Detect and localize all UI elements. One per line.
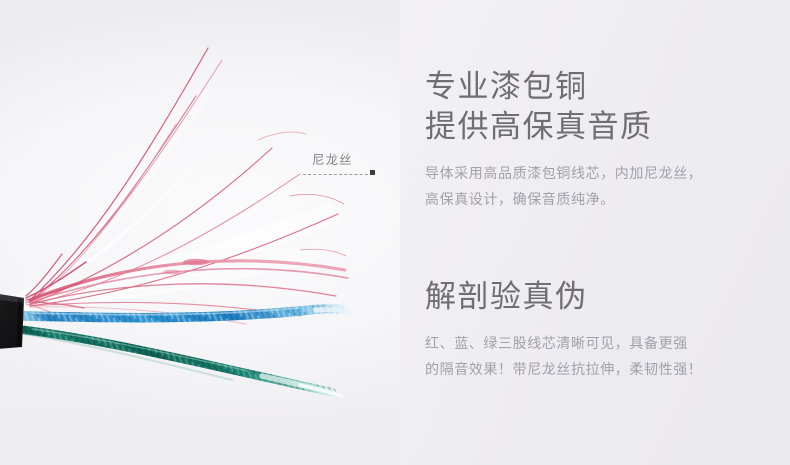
block-1-body-line-1: 导体采用高品质漆包铜线芯，内加尼龙丝， <box>425 160 765 186</box>
block-2-body: 红、蓝、绿三股线芯清晰可见，具备更强 的隔音效果！带尼龙丝抗拉伸，柔韧性强！ <box>425 330 765 382</box>
block-1-body-line-2: 高保真设计，确保音质纯净。 <box>425 186 765 212</box>
feature-block-copper: 专业漆包铜 提供高保真音质 导体采用高品质漆包铜线芯，内加尼龙丝， 高保真设计，… <box>425 66 765 212</box>
block-1-heading-line-2: 提供高保真音质 <box>425 106 765 148</box>
product-feature-banner: 尼龙丝 专业漆包铜 提供高保真音质 导体采用高品质漆包铜线芯，内加尼龙丝， 高保… <box>0 0 790 465</box>
annotation-leader-dot <box>370 170 375 175</box>
annotation-leader-line <box>303 174 373 176</box>
block-2-body-line-1: 红、蓝、绿三股线芯清晰可见，具备更强 <box>425 330 765 356</box>
block-2-heading-line-1: 解剖验真伪 <box>425 276 765 318</box>
block-2-body-line-2: 的隔音效果！带尼龙丝抗拉伸，柔韧性强！ <box>425 356 765 382</box>
product-photo-dissected-cable <box>0 0 420 465</box>
marketing-copy-column: 专业漆包铜 提供高保真音质 导体采用高品质漆包铜线芯，内加尼龙丝， 高保真设计，… <box>425 0 765 465</box>
feature-block-dissection: 解剖验真伪 红、蓝、绿三股线芯清晰可见，具备更强 的隔音效果！带尼龙丝抗拉伸，柔… <box>425 276 765 382</box>
green-braided-core <box>24 329 342 396</box>
block-1-heading-line-1: 专业漆包铜 <box>425 66 765 108</box>
cable-jacket <box>0 292 24 350</box>
annotation-label: 尼龙丝 <box>312 152 353 168</box>
green-core-shadow <box>24 334 232 380</box>
annotation-nylon-filament: 尼龙丝 <box>303 152 423 194</box>
block-1-body: 导体采用高品质漆包铜线芯，内加尼龙丝， 高保真设计，确保音质纯净。 <box>425 160 765 212</box>
